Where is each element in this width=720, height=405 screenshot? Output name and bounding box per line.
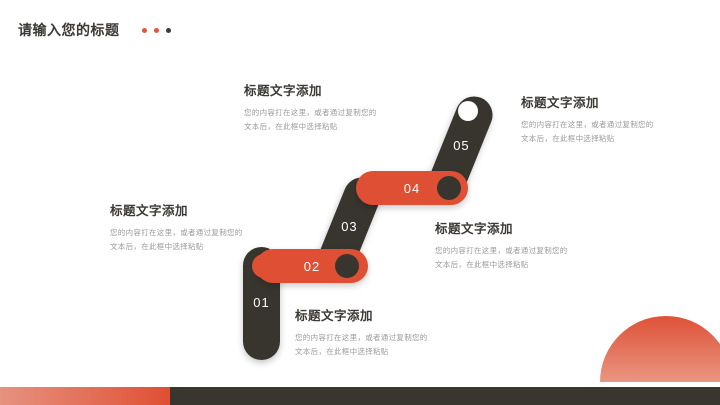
chain-link-05-number: 05 bbox=[453, 138, 469, 153]
content-block-05-title: 标题文字添加 bbox=[521, 92, 720, 111]
content-block-02-body-line-2: 文本后，在此框中选择粘贴 bbox=[110, 240, 330, 254]
content-block-03-body-line-2: 文本后，在此框中选择粘贴 bbox=[435, 258, 655, 272]
chain-link-01-number: 01 bbox=[253, 295, 269, 310]
content-block-02-body-line-1: 您的内容打在这里，或者通过复制您的 bbox=[110, 226, 330, 240]
content-block-05: 标题文字添加 您的内容打在这里，或者通过复制您的 文本后，在此框中选择粘贴 bbox=[521, 92, 720, 146]
content-block-05-body-line-1: 您的内容打在这里，或者通过复制您的 bbox=[521, 118, 720, 132]
content-block-01-body-line-1: 您的内容打在这里，或者通过复制您的 bbox=[295, 331, 515, 345]
content-block-02: 标题文字添加 您的内容打在这里，或者通过复制您的 文本后，在此框中选择粘贴 bbox=[110, 200, 330, 254]
slide-canvas: 请输入您的标题 01 03 05 02 0 bbox=[0, 0, 720, 405]
content-block-03-body: 您的内容打在这里，或者通过复制您的 文本后，在此框中选择粘贴 bbox=[435, 244, 655, 272]
content-block-04-body-line-1: 您的内容打在这里，或者通过复制您的 bbox=[244, 106, 474, 120]
content-block-04: 标题文字添加 您的内容打在这里，或者通过复制您的 文本后，在此框中选择粘贴 bbox=[244, 80, 474, 134]
content-block-01-body-line-2: 文本后，在此框中选择粘贴 bbox=[295, 345, 515, 359]
chain-link-03-number: 03 bbox=[341, 219, 357, 234]
content-block-01-body: 您的内容打在这里，或者通过复制您的 文本后，在此框中选择粘贴 bbox=[295, 331, 515, 359]
content-block-04-title: 标题文字添加 bbox=[244, 80, 474, 99]
content-block-03: 标题文字添加 您的内容打在这里，或者通过复制您的 文本后，在此框中选择粘贴 bbox=[435, 218, 655, 272]
content-block-01: 标题文字添加 您的内容打在这里，或者通过复制您的 文本后，在此框中选择粘贴 bbox=[295, 305, 515, 359]
chain-joint-03-04-icon bbox=[363, 176, 387, 200]
content-block-03-title: 标题文字添加 bbox=[435, 218, 655, 237]
chain-link-02-number: 02 bbox=[304, 259, 320, 274]
content-block-05-body: 您的内容打在这里，或者通过复制您的 文本后，在此框中选择粘贴 bbox=[521, 118, 720, 146]
chain-joint-04-05-icon bbox=[437, 176, 461, 200]
chain-link-04-number: 04 bbox=[404, 181, 420, 196]
chain-joint-02-03-icon bbox=[335, 254, 359, 278]
content-block-02-body: 您的内容打在这里，或者通过复制您的 文本后，在此框中选择粘贴 bbox=[110, 226, 330, 254]
content-block-04-body: 您的内容打在这里，或者通过复制您的 文本后，在此框中选择粘贴 bbox=[244, 106, 474, 134]
content-block-05-body-line-2: 文本后，在此框中选择粘贴 bbox=[521, 132, 720, 146]
content-block-02-title: 标题文字添加 bbox=[110, 200, 330, 219]
content-block-04-body-line-2: 文本后，在此框中选择粘贴 bbox=[244, 120, 474, 134]
chain-joint-01-02-icon bbox=[252, 254, 276, 278]
content-block-03-body-line-1: 您的内容打在这里，或者通过复制您的 bbox=[435, 244, 655, 258]
content-block-01-title: 标题文字添加 bbox=[295, 305, 515, 324]
